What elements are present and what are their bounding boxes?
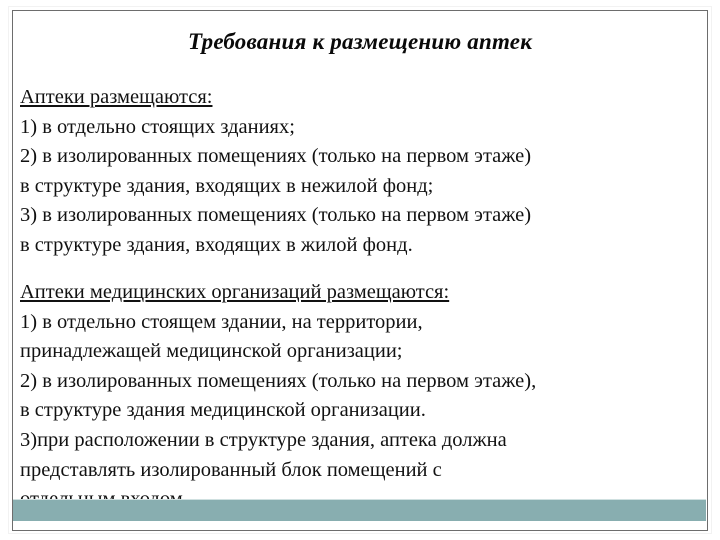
- block-1-line-4: 3) в изолированных помещениях (только на…: [20, 201, 706, 231]
- block-2-line-1: 1) в отдельно стоящем здании, на террито…: [20, 308, 706, 338]
- slide: Требования к размещению аптек Аптеки раз…: [0, 0, 720, 540]
- block-2-line-3: 2) в изолированных помещениях (только на…: [20, 367, 706, 397]
- block-2-line-4: в структуре здания медицинской организац…: [20, 396, 706, 426]
- block-1-line-2: 2) в изолированных помещениях (только на…: [20, 142, 706, 172]
- block-2-line-6: представлять изолированный блок помещени…: [20, 456, 706, 486]
- block-1-line-1: 1) в отдельно стоящих зданиях;: [20, 113, 706, 143]
- block-2-line-2: принадлежащей медицинской организации;: [20, 337, 706, 367]
- block-2-line-5: 3)при расположении в структуре здания, а…: [20, 426, 706, 456]
- text-block-1: Аптеки размещаются: 1) в отдельно стоящи…: [20, 83, 706, 261]
- page-title: Требования к размещению аптек: [13, 29, 707, 55]
- accent-bar: [13, 500, 706, 521]
- block-2-heading: Аптеки медицинских организаций размещают…: [20, 278, 706, 308]
- slide-content: Требования к размещению аптек Аптеки раз…: [13, 11, 707, 530]
- block-1-line-3: в структуре здания, входящих в нежилой ф…: [20, 172, 706, 202]
- block-1-heading: Аптеки размещаются:: [20, 83, 706, 113]
- block-1-line-5: в структуре здания, входящих в жилой фон…: [20, 231, 706, 261]
- text-block-2: Аптеки медицинских организаций размещают…: [20, 278, 706, 515]
